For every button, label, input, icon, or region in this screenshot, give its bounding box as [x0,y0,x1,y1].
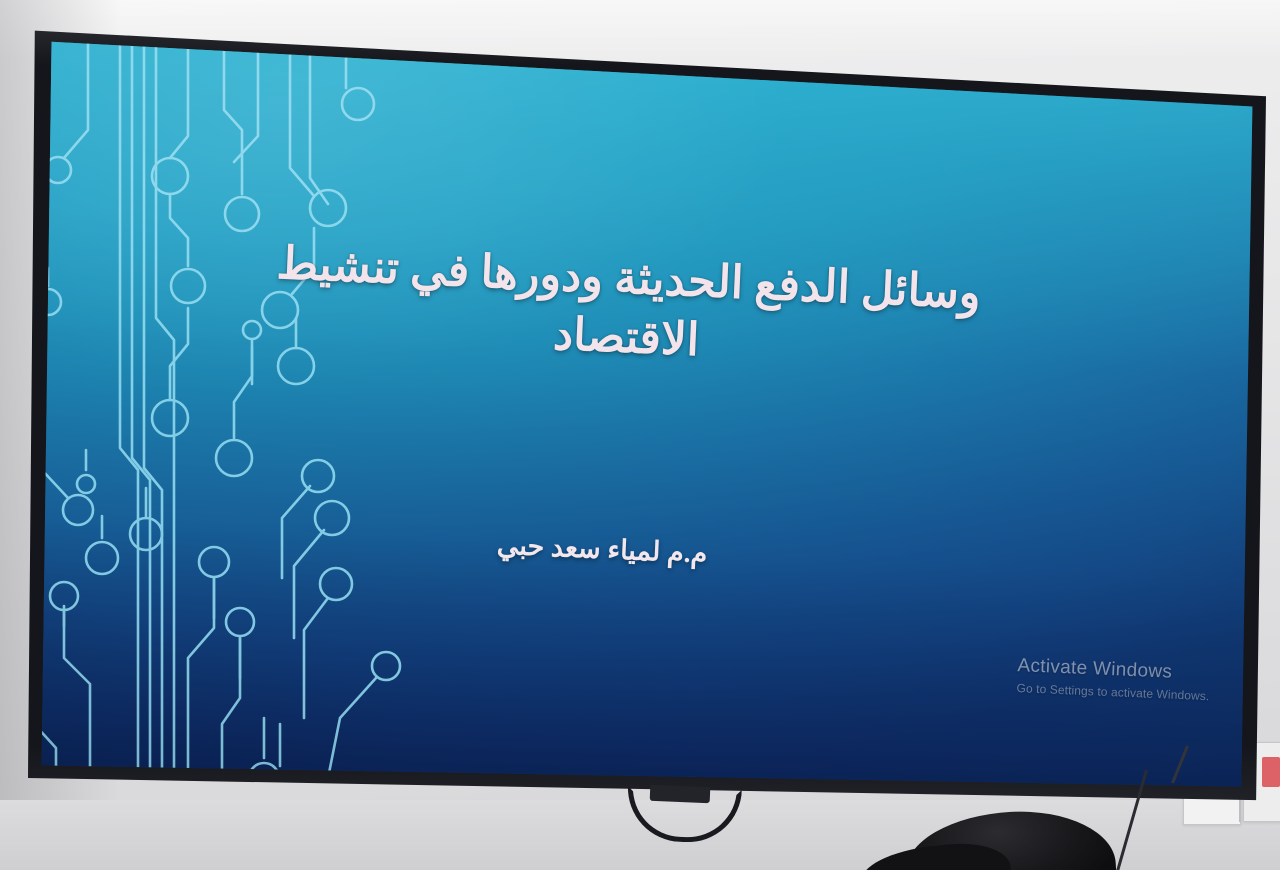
screenshot-root: وسائل الدفع الحديثة ودورها في تنشيط الاق… [0,0,1280,870]
tv-screen[interactable]: وسائل الدفع الحديثة ودورها في تنشيط الاق… [28,18,1266,808]
wall-outlet-marker [1262,757,1280,787]
television: وسائل الدفع الحديثة ودورها في تنشيط الاق… [0,0,1280,870]
screen-vignette [28,18,1266,808]
tv-stand-foot [650,785,711,803]
